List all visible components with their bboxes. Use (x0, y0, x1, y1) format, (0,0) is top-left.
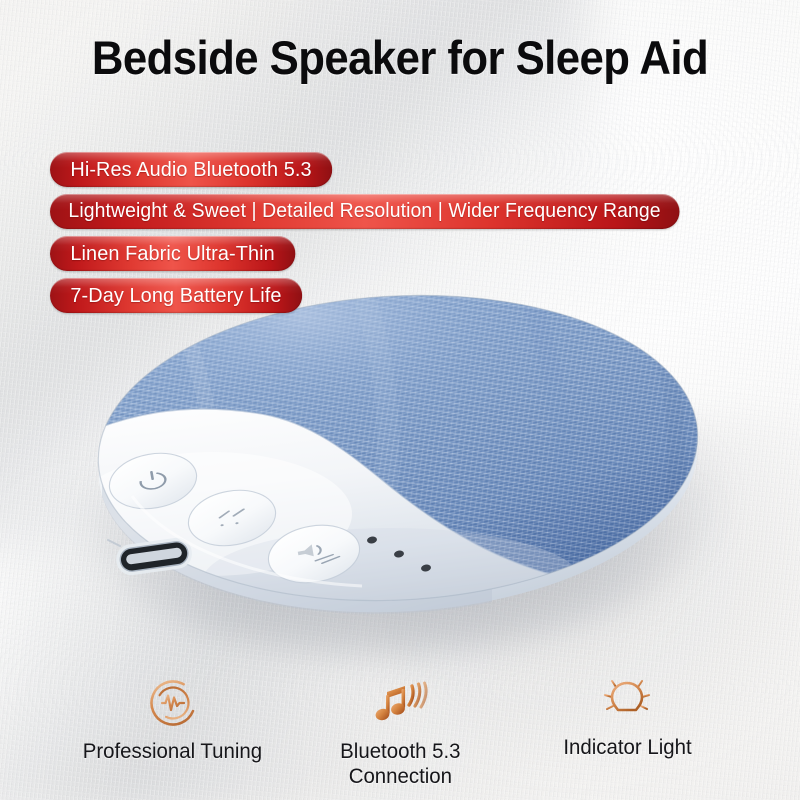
bluetooth-line-2: Connection (348, 764, 451, 788)
speaker-illustration (62, 282, 734, 644)
feature-pill-linen-fabric: Linen Fabric Ultra-Thin (50, 236, 295, 271)
feature-label-indicator-light: Indicator Light (563, 735, 691, 760)
bluetooth-line-1: Bluetooth 5.3 (340, 739, 460, 763)
tuning-waveform-icon (146, 674, 200, 732)
feature-label-bluetooth-connection: Bluetooth 5.3Connection (340, 739, 460, 788)
feature-pill-battery-life: 7-Day Long Battery Life (50, 278, 302, 313)
page-title: Bedside Speaker for Sleep Aid (28, 34, 772, 82)
feature-pill-list: Hi-Res Audio Bluetooth 5.3 Lightweight &… (50, 152, 699, 313)
feature-professional-tuning: Professional Tuning (78, 674, 267, 764)
feature-indicator-light: Indicator Light (533, 672, 722, 760)
bluetooth-music-icon (371, 676, 429, 734)
feature-bluetooth-connection: Bluetooth 5.3Connection (305, 676, 494, 788)
feature-pill-hi-res-audio: Hi-Res Audio Bluetooth 5.3 (50, 152, 332, 187)
lightbulb-icon (601, 672, 653, 730)
feature-label-professional-tuning: Professional Tuning (83, 739, 262, 764)
product-image-speaker (62, 282, 734, 644)
port-seam (108, 540, 120, 546)
product-marketing-image: Bedside Speaker for Sleep Aid Hi-Res Aud… (0, 0, 800, 800)
feature-pill-lightweight: Lightweight & Sweet | Detailed Resolutio… (50, 194, 679, 229)
feature-icon-row: Professional Tuning (0, 674, 800, 786)
